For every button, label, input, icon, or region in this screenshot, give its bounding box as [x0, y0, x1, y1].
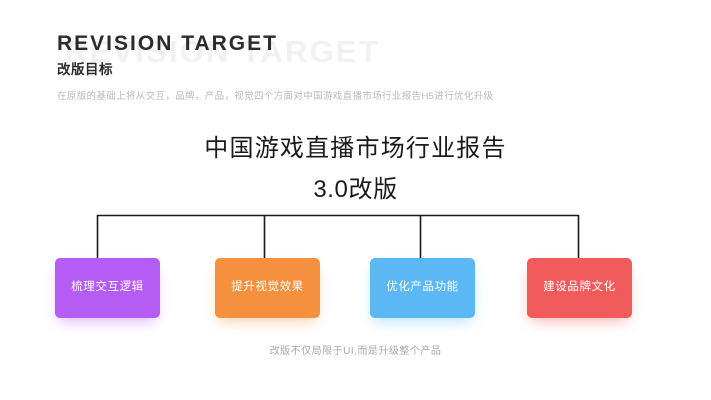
node-box-product-function[interactable]: 优化产品功能: [370, 258, 475, 318]
node-box-row: 梳理交互逻辑 提升视觉效果 优化产品功能 建设品牌文化: [0, 258, 711, 318]
node-box-brand-culture[interactable]: 建设品牌文化: [527, 258, 632, 318]
node-box-visual-effect[interactable]: 提升视觉效果: [215, 258, 320, 318]
node-box-label: 优化产品功能: [386, 282, 459, 294]
header-block: REVISION TARGET REVISION TARGET 改版目标 在原版…: [57, 30, 617, 110]
header-title-chinese: 改版目标: [57, 61, 113, 79]
main-title-line-2: 3.0改版: [0, 173, 711, 208]
node-box-label: 梳理交互逻辑: [71, 282, 144, 294]
header-title-english: REVISION TARGET: [57, 30, 278, 58]
slide-canvas: REVISION TARGET REVISION TARGET 改版目标 在原版…: [0, 0, 711, 400]
tree-connector-lines: [0, 206, 711, 262]
node-box-interaction-logic[interactable]: 梳理交互逻辑: [55, 258, 160, 318]
node-box-label: 提升视觉效果: [231, 282, 304, 294]
main-title-block: 中国游戏直播市场行业报告 3.0改版: [0, 132, 711, 208]
header-description: 在原版的基础上将从交互，品牌，产品，视觉四个方面对中国游戏直播市场行业报告H5进…: [57, 90, 493, 103]
main-title-line-1: 中国游戏直播市场行业报告: [0, 132, 711, 167]
node-box-label: 建设品牌文化: [543, 282, 616, 294]
footnote-text: 改版不仅局限于UI,而是升级整个产品: [0, 345, 711, 359]
